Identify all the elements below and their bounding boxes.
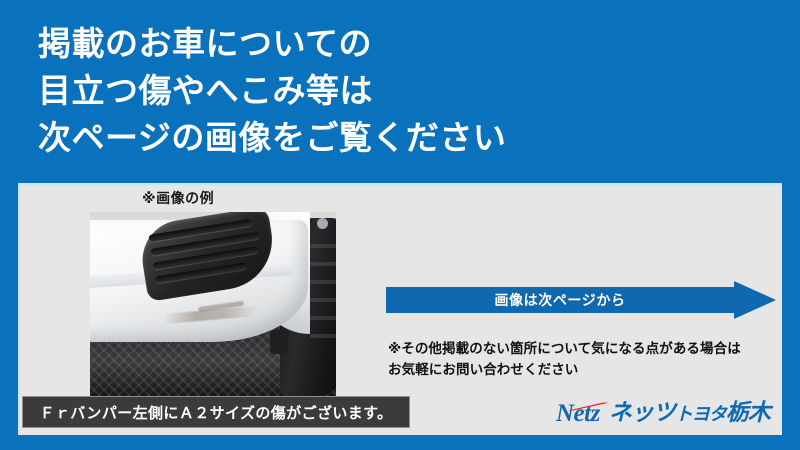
dealer-name-kana2: トヨタ xyxy=(675,404,726,425)
dealer-name-text: ネッツトヨタ栃木 xyxy=(609,402,770,425)
inquiry-note: ※その他掲載のない箇所について気になる点がある場合は お気軽にお問い合わせくださ… xyxy=(388,338,778,380)
arrow-banner-label: 画像は次ページから xyxy=(386,281,734,319)
inquiry-note-line-2: お気軽にお問い合わせください xyxy=(388,359,778,380)
example-photo-label: ※画像の例 xyxy=(142,188,214,208)
netz-wordmark: Netz xyxy=(556,401,602,426)
photo-windshield-sticker xyxy=(317,218,328,229)
damage-caption-bar: Ｆｒバンパー左側にＡ２サイズの傷がございます。 xyxy=(22,396,410,428)
next-page-arrow-banner: 画像は次ページから xyxy=(386,281,776,319)
dealer-name-kanji: 栃木 xyxy=(726,400,770,426)
netz-wordmark-text: Netz xyxy=(556,400,600,427)
netz-dealer-logo: Netz ネッツトヨタ栃木 xyxy=(556,396,770,430)
dealer-name-kana: ネッツ xyxy=(609,400,675,426)
damage-caption-text: Ｆｒバンパー左側にＡ２サイズの傷がございます。 xyxy=(39,402,392,423)
page-title: 掲載のお車についての 目立つ傷やへこみ等は 次ページの画像をご覧ください xyxy=(38,20,758,161)
damage-photo xyxy=(90,212,336,397)
photo-mudflap xyxy=(270,330,288,354)
inquiry-note-line-1: ※その他掲載のない箇所について気になる点がある場合は xyxy=(388,338,778,359)
headline-line-1: 掲載のお車についての xyxy=(38,20,758,67)
headline-line-2: 目立つ傷やへこみ等は xyxy=(38,67,758,114)
slide-canvas: 掲載のお車についての 目立つ傷やへこみ等は 次ページの画像をご覧ください ※画像… xyxy=(0,0,800,450)
headline-line-3: 次ページの画像をご覧ください xyxy=(38,114,758,161)
